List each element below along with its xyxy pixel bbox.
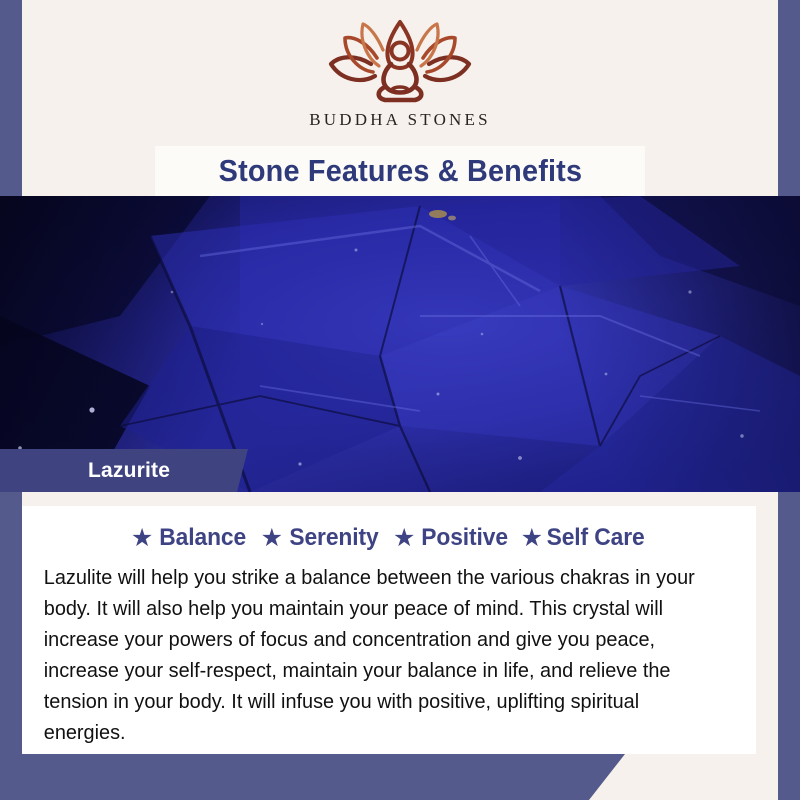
- brand-name: BUDDHA STONES: [309, 110, 491, 130]
- title-banner: Stone Features & Benefits: [155, 146, 645, 196]
- poster-canvas: BUDDHA STONES Stone Features & Benefits: [0, 0, 800, 800]
- star-icon: ★: [521, 526, 543, 551]
- star-icon: ★: [131, 526, 153, 551]
- keyword-label: Positive: [422, 524, 509, 552]
- keyword-self-care: ★ Self Care: [515, 524, 648, 552]
- keyword-serenity: ★ Serenity: [253, 524, 381, 552]
- star-icon: ★: [261, 526, 283, 551]
- lazurite-stone-image: [0, 196, 800, 492]
- decorative-bottom-bar: [0, 754, 625, 800]
- content-card: ★ Balance ★ Serenity ★ Positive ★ Self C…: [22, 506, 756, 754]
- stone-description: Lazulite will help you strike a balance …: [36, 562, 721, 748]
- stone-photo: [0, 196, 800, 492]
- keyword-balance: ★ Balance: [131, 524, 249, 552]
- page-title: Stone Features & Benefits: [218, 153, 582, 189]
- brand-logo: BUDDHA STONES: [22, 18, 778, 130]
- star-icon: ★: [393, 526, 415, 551]
- stone-name-label: Lazurite: [88, 459, 170, 483]
- keyword-label: Self Care: [547, 524, 645, 552]
- keyword-label: Serenity: [289, 524, 378, 552]
- separator-strip: [22, 492, 756, 506]
- lotus-meditation-figure-icon: [325, 18, 475, 104]
- keyword-label: Balance: [160, 524, 247, 552]
- stone-name-ribbon: Lazurite: [0, 449, 248, 492]
- keyword-row: ★ Balance ★ Serenity ★ Positive ★ Self C…: [36, 524, 742, 552]
- keyword-positive: ★ Positive: [385, 524, 511, 552]
